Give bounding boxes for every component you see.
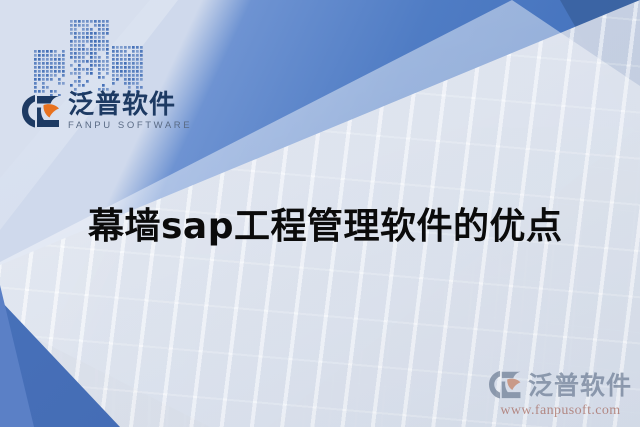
pixel-skyline-icon: [32, 16, 144, 96]
watermark-logo-mark-icon: [489, 370, 523, 399]
logo-english-name: FANPU SOFTWARE: [68, 121, 192, 131]
brand-logo: 泛普软件 FANPU SOFTWARE: [22, 92, 192, 131]
watermark-logo-row: 泛普软件: [489, 366, 632, 402]
marketing-banner: 泛普软件 FANPU SOFTWARE 幕墙sap工程管理软件的优点 泛普软件 …: [0, 0, 640, 427]
logo-chinese-name: 泛普软件: [68, 92, 192, 118]
watermark-chinese-name: 泛普软件: [528, 366, 632, 402]
site-watermark: 泛普软件 www.fanpusoft.com: [489, 366, 632, 419]
banner-headline: 幕墙sap工程管理软件的优点: [88, 197, 563, 249]
watermark-url: www.fanpusoft.com: [500, 403, 620, 419]
fanpu-logo-mark-icon: [22, 94, 62, 128]
